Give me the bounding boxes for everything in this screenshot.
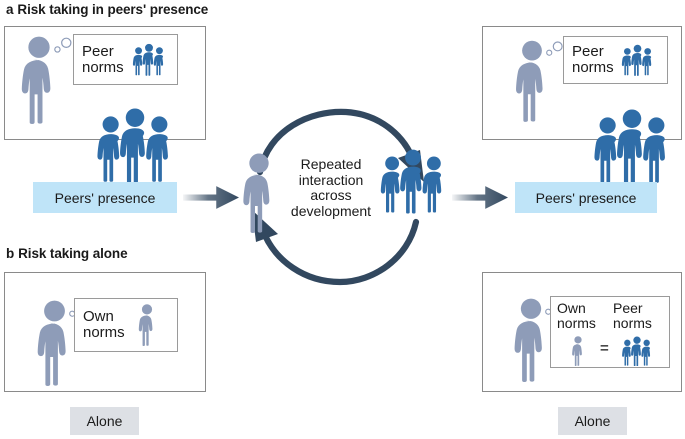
panel-a-title: Risk taking in peers' presence xyxy=(17,2,208,17)
panel-a-right-norm-line-1: Peer xyxy=(572,44,614,60)
panel-a-right-norm-line-2: norms xyxy=(572,60,614,76)
panel-b-title: Risk taking alone xyxy=(18,246,127,261)
panel-b-right-own-norms-label: Own norms xyxy=(557,301,596,330)
panel-b-right-own-norms-line-2: norms xyxy=(557,316,596,331)
panel-a-left-norm-line-1: Peer xyxy=(82,44,124,60)
panel-b-right-peer-norms-line-1: Peer xyxy=(613,301,652,316)
panel-b-right-own-single-person-icon xyxy=(569,336,587,366)
panel-a-left-norm-box-peers-group-icon xyxy=(131,43,167,76)
panel-b-marker: b xyxy=(6,246,14,261)
panel-b-right-peer-norms-line-2: norms xyxy=(613,316,652,331)
panel-b-heading: bRisk taking alone xyxy=(6,246,128,261)
panel-b-left-status-label-text: Alone xyxy=(87,413,123,429)
arrow-left-to-center xyxy=(183,184,239,211)
panel-a-left-status-label: Peers' presence xyxy=(33,182,177,213)
panel-b-right-norm-box: Own norms Peer norms xyxy=(550,296,670,368)
panel-a-left-norm-line-2: norms xyxy=(82,60,124,76)
equals-sign: = xyxy=(600,340,609,357)
cycle-label-line-1: Repeated xyxy=(283,157,379,173)
panel-b-right-status-label-text: Alone xyxy=(575,413,611,429)
arrow-center-to-right xyxy=(452,184,508,211)
panel-b-left-norm-line-2: norms xyxy=(83,325,125,341)
center-self-figure xyxy=(240,153,278,233)
panel-a-left-peers-group-icon xyxy=(93,107,177,183)
panel-b-right-peer-peers-group-icon xyxy=(617,336,657,366)
panel-a-left-norm-box: Peer norms xyxy=(73,34,178,85)
panel-a-right-status-label: Peers' presence xyxy=(515,182,657,213)
center-peers-group-icon xyxy=(377,148,449,214)
cycle-label-line-2: interaction xyxy=(283,173,379,189)
panel-b-left-status-label: Alone xyxy=(70,407,139,435)
panel-b-right-status-label: Alone xyxy=(558,407,627,435)
panel-b-left-norm-box-text: Own norms xyxy=(83,309,125,341)
panel-a-right-status-label-text: Peers' presence xyxy=(536,190,637,206)
panel-a-right-peers-group-icon xyxy=(590,108,674,184)
panel-b-left-norm-line-1: Own xyxy=(83,309,125,325)
figure-canvas: aRisk taking in peers' presence bRisk ta… xyxy=(0,0,685,439)
panel-b-right-own-norms-line-1: Own xyxy=(557,301,596,316)
panel-a-heading: aRisk taking in peers' presence xyxy=(6,2,208,17)
panel-b-left-norm-box-single-person-icon xyxy=(137,304,157,346)
panel-a-marker: a xyxy=(6,2,13,17)
curved-arrow-counterclockwise-icon xyxy=(262,222,416,282)
panel-a-right-norm-box: Peer norms xyxy=(563,36,668,84)
panel-b-right-peer-norms-label: Peer norms xyxy=(613,301,652,330)
panel-a-right-norm-box-text: Peer norms xyxy=(572,44,614,76)
panel-b-left-norm-box: Own norms xyxy=(74,298,178,352)
panel-a-left-status-label-text: Peers' presence xyxy=(55,190,156,206)
cycle-label-line-3: across xyxy=(283,188,379,204)
cycle-label: Repeated interaction across development xyxy=(283,157,379,220)
cycle-label-line-4: development xyxy=(283,204,379,220)
panel-a-right-norm-box-peers-group-icon xyxy=(620,44,655,76)
panel-a-left-norm-box-text: Peer norms xyxy=(82,44,124,76)
